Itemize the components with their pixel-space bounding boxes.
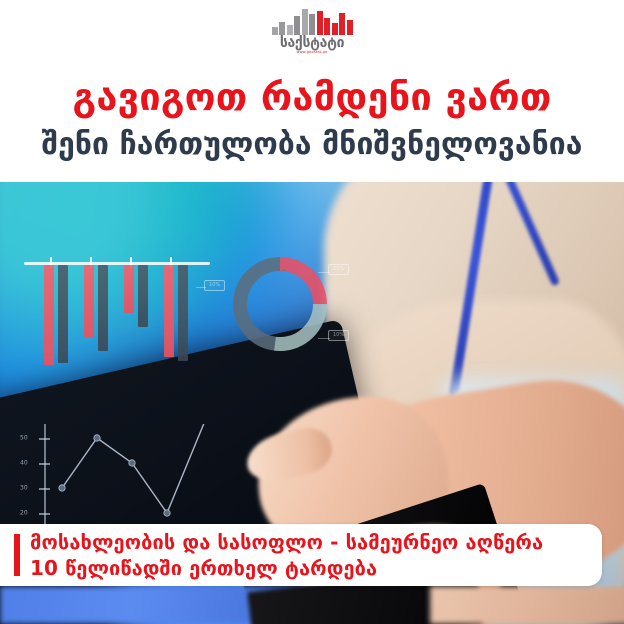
line-chart-point: [94, 435, 100, 441]
bar-red: [164, 265, 174, 357]
line-chart-point: [164, 510, 170, 516]
headline-secondary: შენი ჩართულობა მნიშვნელოვანია: [0, 129, 624, 161]
bar-callout-label: 10%: [204, 280, 225, 291]
bar-red: [124, 265, 134, 313]
bar-dark: [138, 265, 148, 327]
banner-line-1: მოსახლეობის და სასოფლო - სამეურნეო აღწერ…: [30, 530, 570, 556]
donut-callout-label-25: 25%: [328, 264, 349, 275]
banner-text-block: მოსახლეობის და სასოფლო - სამეურნეო აღწერ…: [30, 530, 570, 581]
donut-chart: [228, 252, 332, 356]
headline-primary: გავიგოთ რამდენი ვართ: [0, 78, 624, 118]
bottom-banner: მოსახლეობის და სასოფლო - სამეურნეო აღწერ…: [0, 524, 602, 586]
line-chart-polyline: [62, 424, 207, 513]
logo-bar-chart-icon: [264, 9, 360, 35]
logo-url: www.geostat.ge: [264, 50, 360, 55]
bar-dark: [178, 265, 188, 361]
bar-dark: [58, 265, 68, 363]
bar-red: [84, 265, 94, 337]
banner-line-2: 10 წელიწადში ერთხელ ტარდება: [30, 556, 570, 582]
trend-line-chart: 50 40 30 20: [22, 424, 220, 528]
header-band: საქსტატი www.geostat.ge გავიგოთ რამდენი …: [0, 0, 624, 182]
logo-wordmark: საქსტატი: [264, 36, 360, 50]
poster-canvas: 25% 10% 10% 50 40 30 20: [0, 0, 624, 624]
logo[interactable]: საქსტატი www.geostat.ge: [264, 9, 360, 55]
line-chart-point: [59, 485, 65, 491]
line-chart-series: [22, 424, 220, 528]
bar-red: [44, 265, 54, 365]
banner-accent-bar: [14, 534, 20, 576]
line-chart-point: [129, 460, 135, 466]
bar-dark: [98, 265, 108, 351]
donut-callout-label-10: 10%: [328, 330, 349, 341]
hanging-bar-chart: [18, 262, 218, 374]
